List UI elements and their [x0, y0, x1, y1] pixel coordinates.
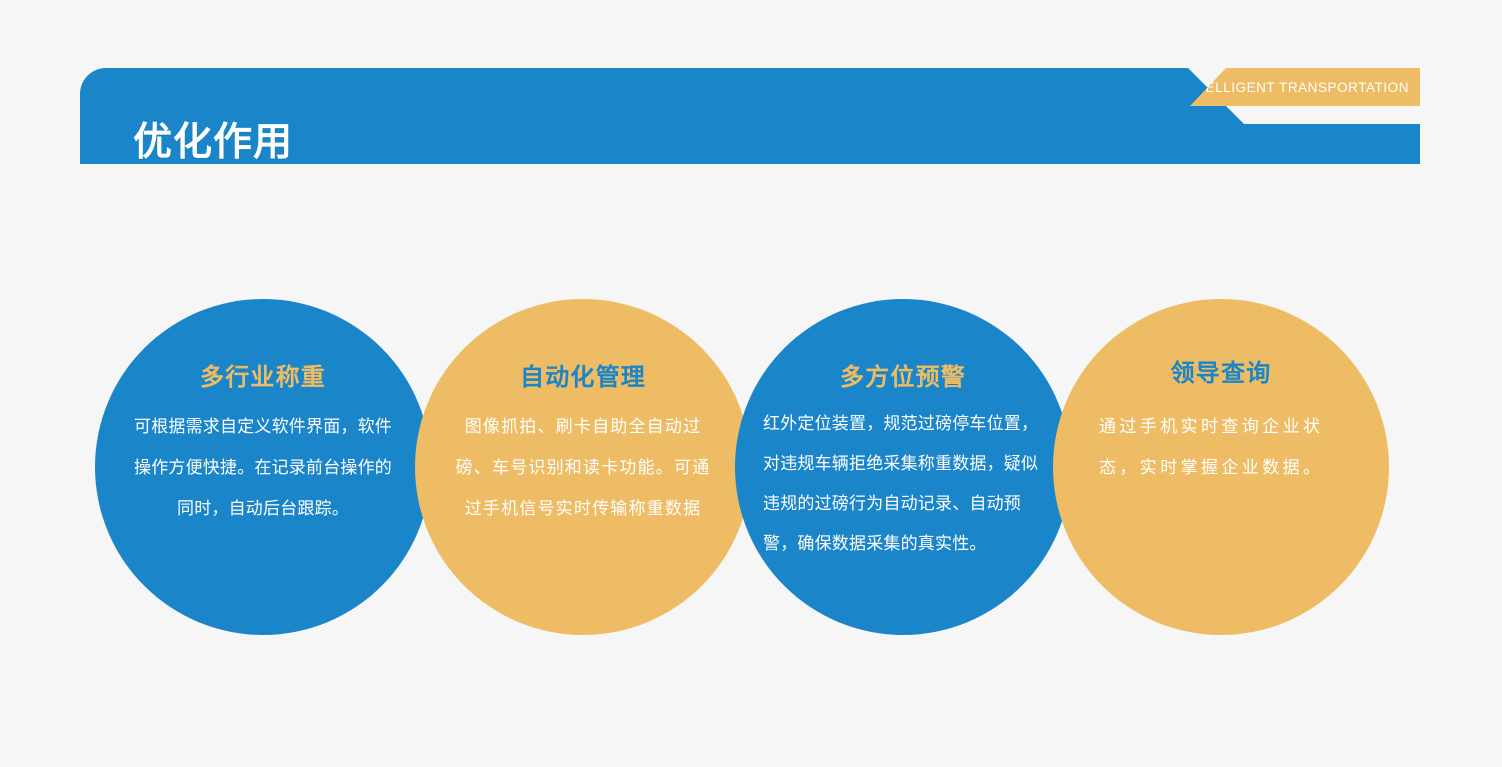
feature-circle-2-body: 图像抓拍、刷卡自助全自动过磅、车号识别和读卡功能。可通过手机信号实时传输称重数据 [447, 406, 719, 529]
feature-circle-1-title: 多行业称重 [200, 366, 326, 390]
feature-circle-3[interactable]: 多方位预警 红外定位装置，规范过磅停车位置，对违规车辆拒绝采集称重数据，疑似违规… [735, 299, 1071, 635]
slide-root: INTELLIGENT TRANSPORTATION 优化作用 多行业称重 可根… [0, 0, 1502, 767]
page-title: 优化作用 [133, 94, 293, 190]
feature-circle-4-title: 领导查询 [1171, 362, 1272, 386]
feature-circle-3-title: 多方位预警 [840, 366, 966, 390]
feature-circle-3-body: 红外定位装置，规范过磅停车位置，对违规车辆拒绝采集称重数据，疑似违规的过磅行为自… [759, 404, 1047, 564]
feature-circle-1[interactable]: 多行业称重 可根据需求自定义软件界面，软件操作方便快捷。在记录前台操作的同时，自… [95, 299, 431, 635]
header-tab-shape: INTELLIGENT TRANSPORTATION [1190, 68, 1420, 106]
feature-circle-4[interactable]: 领导查询 通过手机实时查询企业状态，实时掌握企业数据。 [1053, 299, 1389, 635]
feature-circle-2[interactable]: 自动化管理 图像抓拍、刷卡自助全自动过磅、车号识别和读卡功能。可通过手机信号实时… [415, 299, 751, 635]
feature-circle-2-title: 自动化管理 [520, 366, 646, 390]
feature-circle-4-body: 通过手机实时查询企业状态，实时掌握企业数据。 [1093, 406, 1349, 488]
feature-circle-1-body: 可根据需求自定义软件界面，软件操作方便快捷。在记录前台操作的同时，自动后台跟踪。 [127, 406, 399, 529]
